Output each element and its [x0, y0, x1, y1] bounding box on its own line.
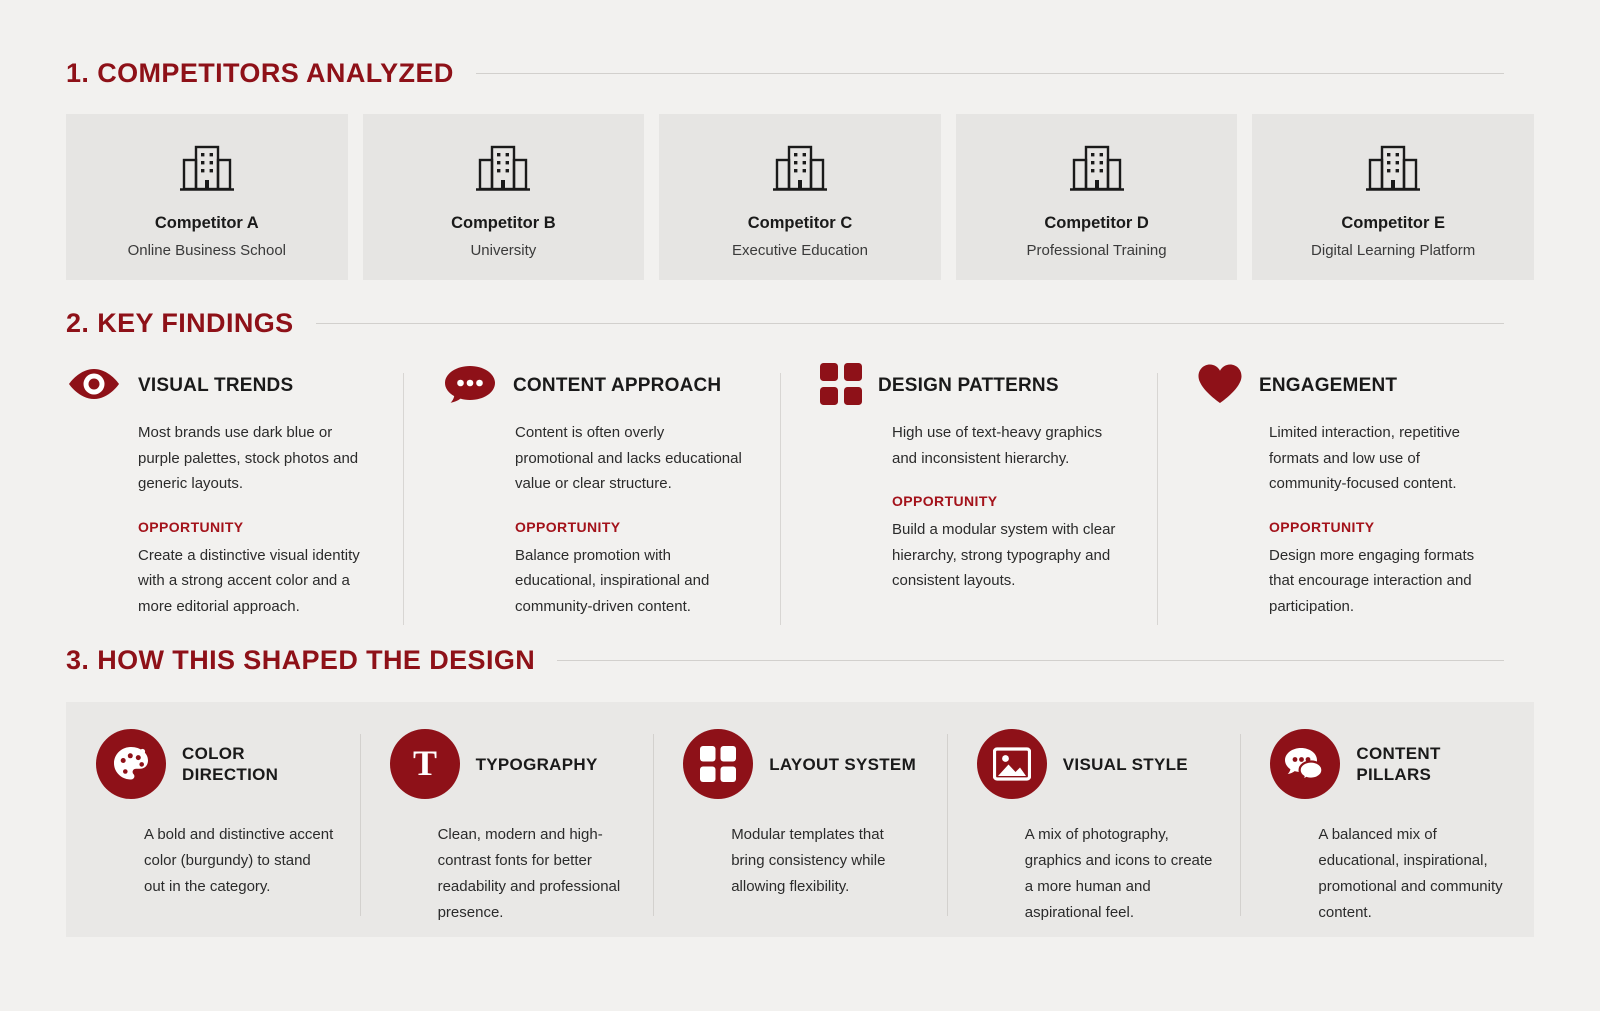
chat-bubbles-icon [1270, 729, 1340, 799]
building-icon [363, 138, 645, 200]
competitor-card[interactable]: Competitor D Professional Training [956, 114, 1238, 280]
section-header-impact: 3. HOW THIS SHAPED THE DESIGN [0, 645, 1600, 676]
competitor-name: Competitor C [659, 214, 941, 233]
impact-header: CONTENT PILLARS [1270, 728, 1508, 800]
heart-icon [1197, 363, 1243, 410]
finding-title: VISUAL TRENDS [138, 375, 293, 397]
competitor-name: Competitor E [1252, 214, 1534, 233]
section-rule [557, 660, 1504, 661]
grid-icon [820, 363, 862, 410]
impact-title: CONTENT PILLARS [1356, 743, 1508, 785]
competitor-card[interactable]: Competitor C Executive Education [659, 114, 941, 280]
section-header-competitors: 1. COMPETITORS ANALYZED [0, 58, 1600, 89]
opportunity-label: OPPORTUNITY [515, 519, 746, 535]
competitor-card-list: Competitor A Online Business School [0, 114, 1600, 280]
section-title-impact: 3. HOW THIS SHAPED THE DESIGN [66, 645, 535, 676]
building-icon [1252, 138, 1534, 200]
eye-icon [66, 367, 122, 406]
finding-body: Limited interaction, repetitive formats … [1269, 420, 1500, 497]
typography-t-icon: T [390, 729, 460, 799]
speech-bubble-icon [443, 364, 497, 409]
impact-column: LAYOUT SYSTEM Modular templates that bri… [653, 728, 947, 903]
finding-title: CONTENT APPROACH [513, 375, 721, 397]
impact-column: COLOR DIRECTION A bold and distinctive a… [66, 728, 360, 903]
impact-column: VISUAL STYLE A mix of photography, graph… [947, 728, 1241, 903]
opportunity-text: Build a modular system with clear hierar… [892, 517, 1123, 594]
finding-column: DESIGN PATTERNS High use of text-heavy g… [780, 369, 1157, 619]
competitor-name: Competitor A [66, 214, 348, 233]
impact-body: A bold and distinctive accent color (bur… [144, 822, 334, 900]
competitor-name: Competitor D [956, 214, 1238, 233]
building-icon [66, 138, 348, 200]
infographic-page: 1. COMPETITORS ANALYZED Co [0, 0, 1600, 1011]
impact-header: T TYPOGRAPHY [390, 728, 628, 800]
opportunity-label: OPPORTUNITY [138, 519, 369, 535]
competitor-name: Competitor B [363, 214, 645, 233]
finding-header: ENGAGEMENT [1197, 369, 1500, 403]
opportunity-label: OPPORTUNITY [1269, 519, 1500, 535]
palette-icon [96, 729, 166, 799]
finding-title: DESIGN PATTERNS [878, 375, 1059, 397]
section-header-findings: 2. KEY FINDINGS [0, 308, 1600, 339]
impact-header: VISUAL STYLE [977, 728, 1215, 800]
finding-body: Most brands use dark blue or purple pale… [138, 420, 369, 497]
competitor-card[interactable]: Competitor E Digital Learning Platform [1252, 114, 1534, 280]
finding-column: CONTENT APPROACH Content is often overly… [403, 369, 780, 619]
svg-text:T: T [413, 744, 437, 783]
impact-title: COLOR DIRECTION [182, 743, 334, 785]
finding-column: ENGAGEMENT Limited interaction, repetiti… [1157, 369, 1534, 619]
competitor-type: University [363, 242, 645, 259]
impact-body: Clean, modern and high-contrast fonts fo… [438, 822, 628, 926]
section-rule [476, 73, 1504, 74]
finding-header: VISUAL TRENDS [66, 369, 369, 403]
impact-body: A mix of photography, graphics and icons… [1025, 822, 1215, 926]
key-findings-list: VISUAL TRENDS Most brands use dark blue … [0, 369, 1600, 619]
competitor-card[interactable]: Competitor A Online Business School [66, 114, 348, 280]
design-impact-panel: COLOR DIRECTION A bold and distinctive a… [66, 702, 1534, 937]
impact-column: CONTENT PILLARS A balanced mix of educat… [1240, 728, 1534, 903]
finding-title: ENGAGEMENT [1259, 375, 1397, 397]
finding-body: Content is often overly promotional and … [515, 420, 746, 497]
competitor-card[interactable]: Competitor B University [363, 114, 645, 280]
competitor-type: Professional Training [956, 242, 1238, 259]
building-icon [956, 138, 1238, 200]
image-icon [977, 729, 1047, 799]
impact-header: LAYOUT SYSTEM [683, 728, 921, 800]
competitor-type: Executive Education [659, 242, 941, 259]
impact-title: VISUAL STYLE [1063, 754, 1188, 775]
finding-body: High use of text-heavy graphics and inco… [892, 420, 1123, 471]
competitor-type: Online Business School [66, 242, 348, 259]
impact-title: TYPOGRAPHY [476, 754, 598, 775]
finding-header: CONTENT APPROACH [443, 369, 746, 403]
opportunity-label: OPPORTUNITY [892, 493, 1123, 509]
impact-title: LAYOUT SYSTEM [769, 754, 916, 775]
section-rule [316, 323, 1504, 324]
finding-column: VISUAL TRENDS Most brands use dark blue … [66, 369, 403, 619]
competitor-type: Digital Learning Platform [1252, 242, 1534, 259]
impact-column: T TYPOGRAPHY Clean, modern and high-cont… [360, 728, 654, 903]
impact-body: A balanced mix of educational, inspirati… [1318, 822, 1508, 926]
impact-body: Modular templates that bring consistency… [731, 822, 921, 900]
finding-header: DESIGN PATTERNS [820, 369, 1123, 403]
impact-header: COLOR DIRECTION [96, 728, 334, 800]
opportunity-text: Create a distinctive visual identity wit… [138, 543, 369, 620]
building-icon [659, 138, 941, 200]
layout-grid-icon [683, 729, 753, 799]
section-title-findings: 2. KEY FINDINGS [66, 308, 294, 339]
opportunity-text: Balance promotion with educational, insp… [515, 543, 746, 620]
section-title-competitors: 1. COMPETITORS ANALYZED [66, 58, 454, 89]
opportunity-text: Design more engaging formats that encour… [1269, 543, 1500, 620]
